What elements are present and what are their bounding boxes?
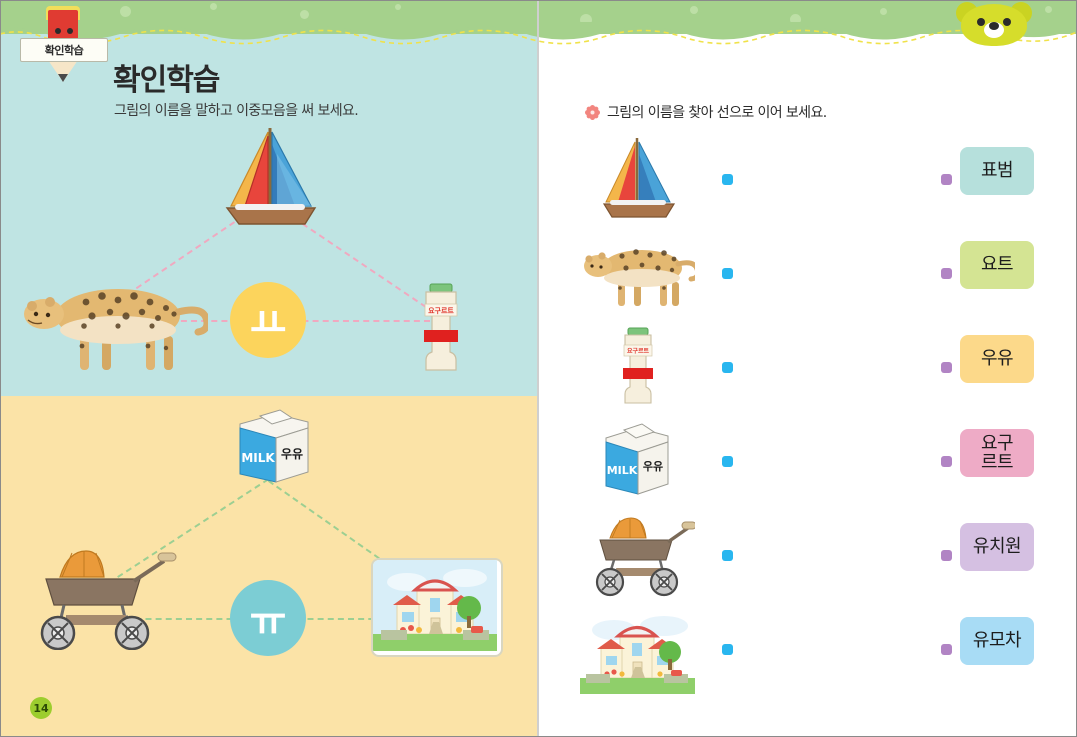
match-row-yacht: 표범 xyxy=(560,132,1060,226)
connector-dot-left[interactable] xyxy=(722,644,733,655)
yogurt-label-text: 요구르트 xyxy=(627,347,650,355)
match-row-kindergarten: 유모차 xyxy=(560,602,1060,696)
connector-dot-right[interactable] xyxy=(941,456,952,467)
mascot-badge-label: 확인학습 xyxy=(20,38,108,62)
yacht-illustration xyxy=(215,120,325,232)
flower-bullet-icon xyxy=(585,105,600,120)
yogurt-bottle-illustration: 요구르트 xyxy=(580,320,695,414)
word-card-yumocha[interactable]: 유모차 xyxy=(960,617,1034,665)
kindergarten-illustration xyxy=(580,602,695,696)
pencil-mascot-icon: 확인학습 xyxy=(34,2,92,90)
page-number-left: 14 xyxy=(30,697,52,719)
page-title: 확인학습 xyxy=(113,55,219,99)
bear-mascot-icon xyxy=(955,0,1033,44)
connector-dot-right[interactable] xyxy=(941,644,952,655)
connector-dot-left[interactable] xyxy=(722,362,733,373)
stroller-illustration xyxy=(30,535,180,650)
milk-carton-illustration: MILK 우유 xyxy=(232,404,316,486)
word-card-line-2: 르트 xyxy=(981,452,1013,473)
worksheet-spread: 요구르트 ㅛ MILK 우유 xyxy=(0,0,1077,737)
word-card-line-1: 요구 xyxy=(981,433,1013,454)
match-row-leopard: 요트 xyxy=(560,226,1060,320)
yogurt-label-text: 요구르트 xyxy=(428,307,454,315)
word-card-yoteu[interactable]: 요트 xyxy=(960,241,1034,289)
connector-dot-right[interactable] xyxy=(941,174,952,185)
kindergarten-illustration xyxy=(371,558,503,657)
connector-dot-right[interactable] xyxy=(941,268,952,279)
yogurt-bottle-illustration: 요구르트 xyxy=(410,282,472,374)
pencil-eye-right xyxy=(67,28,73,34)
match-row-stroller: 유치원 xyxy=(560,508,1060,602)
bear-eye-right xyxy=(1003,18,1011,26)
page-subtitle: 그림의 이름을 말하고 이중모음을 써 보세요. xyxy=(114,100,358,120)
match-row-yogurt: 요구르트 우유 xyxy=(560,320,1060,414)
bear-nose xyxy=(989,22,999,30)
vowel-circle-yo: ㅛ xyxy=(230,282,306,358)
instruction-text: 그림의 이름을 찾아 선으로 이어 보세요. xyxy=(607,102,827,122)
connector-dot-right[interactable] xyxy=(941,550,952,561)
match-row-milk: MILK 우유 요구 르트 xyxy=(560,414,1060,508)
leopard-illustration xyxy=(580,226,695,320)
vowel-circle-yu: ㅠ xyxy=(230,580,306,656)
leopard-illustration xyxy=(18,268,208,373)
yacht-illustration xyxy=(580,132,695,226)
connector-dot-left[interactable] xyxy=(722,456,733,467)
milk-side-text: 우유 xyxy=(281,447,303,461)
word-card-yuchiwon[interactable]: 유치원 xyxy=(960,523,1034,571)
pencil-eye-left xyxy=(55,28,61,34)
word-card-yogureuteu[interactable]: 요구 르트 xyxy=(960,429,1034,477)
connector-dot-left[interactable] xyxy=(722,174,733,185)
milk-carton-illustration: MILK 우유 xyxy=(580,414,695,508)
milk-front-text: MILK xyxy=(241,451,275,465)
bear-eye-left xyxy=(977,18,985,26)
word-card-pyobeom[interactable]: 표범 xyxy=(960,147,1034,195)
connector-dot-left[interactable] xyxy=(722,268,733,279)
stroller-illustration xyxy=(580,508,695,602)
instruction-row: 그림의 이름을 찾아 선으로 이어 보세요. xyxy=(585,102,827,122)
milk-front-text: MILK xyxy=(607,464,638,477)
page-gutter-divider xyxy=(537,0,539,737)
pencil-lead xyxy=(58,74,68,82)
word-card-uyu[interactable]: 우유 xyxy=(960,335,1034,383)
connector-dot-right[interactable] xyxy=(941,362,952,373)
connector-dot-left[interactable] xyxy=(722,550,733,561)
milk-side-text: 우유 xyxy=(643,460,663,473)
